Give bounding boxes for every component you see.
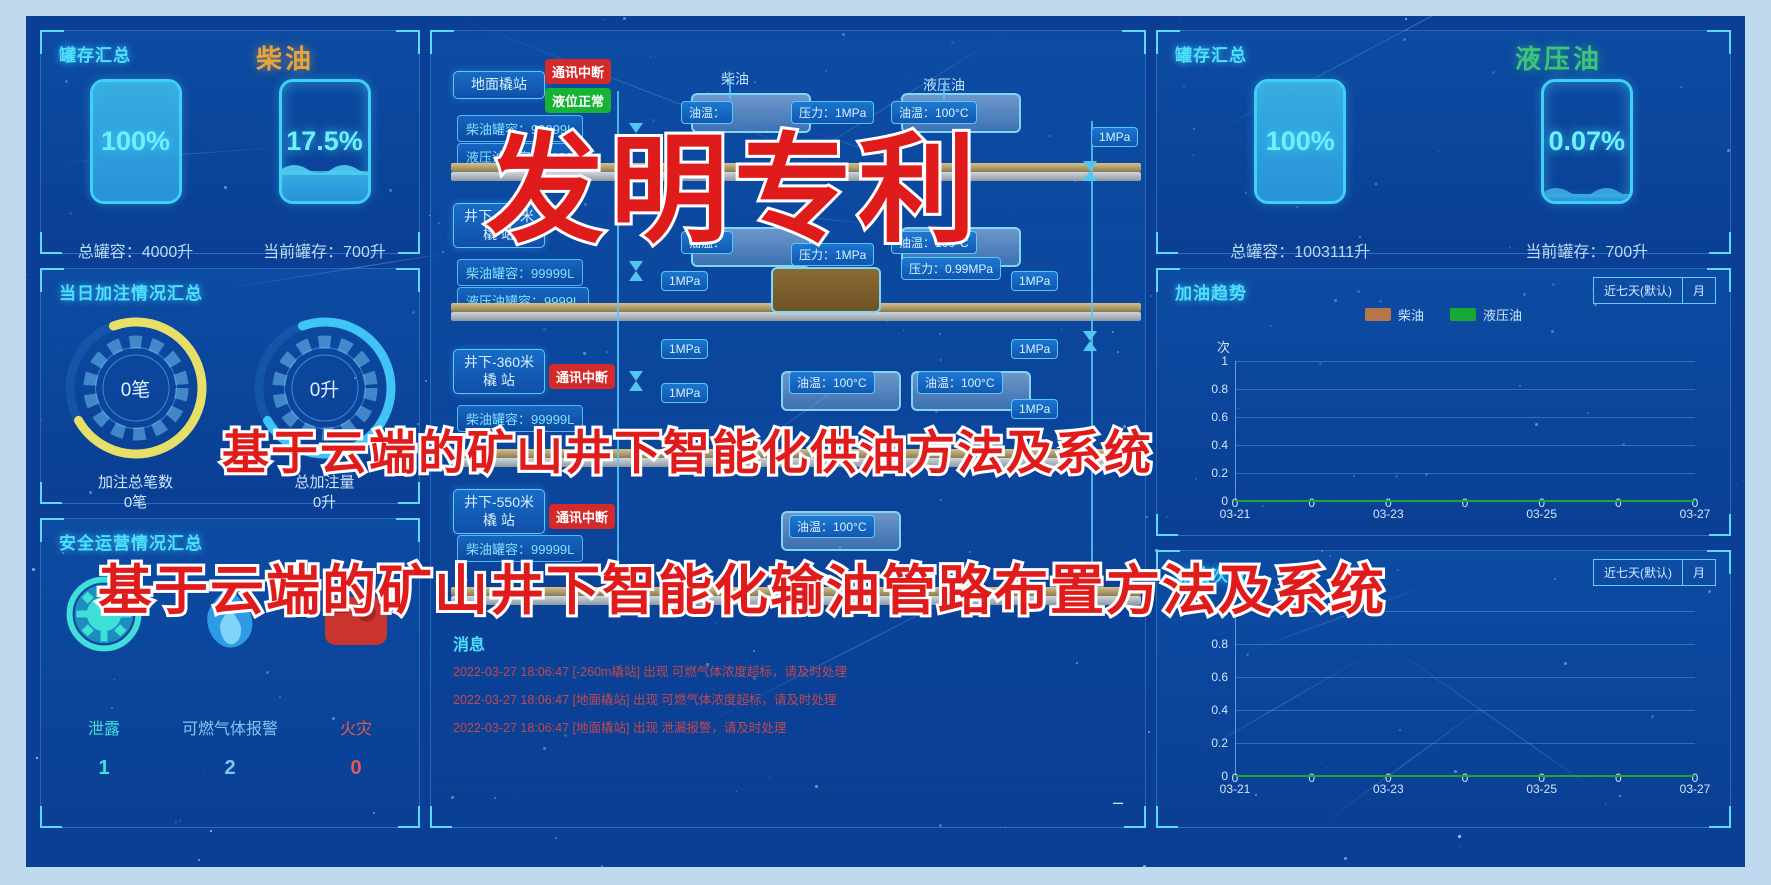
gauge-label-count-value: 0笔 (98, 493, 173, 513)
tank-caption-total-hydraulic: 总罐容：1003111升 (1230, 238, 1370, 262)
y-tick: 0.8 (1211, 637, 1228, 651)
pressure-tag-6: 1MPa (661, 383, 708, 403)
trend-range-month[interactable]: 月 (1683, 277, 1716, 304)
panel-title-daily-refuel: 当日加注情况汇总 (59, 279, 203, 304)
tank-cell-current: 17.5% 当前罐存：700升 (230, 79, 419, 262)
station-m550-line2: 橇 站 (462, 512, 536, 530)
y-tick: 1 (1221, 354, 1228, 368)
zoom-out-button[interactable]: – (1113, 792, 1123, 813)
tank-cell-current-hydraulic: 0.07% 当前罐存：700升 (1444, 79, 1731, 262)
pressure-tag-1: 1MPa (1091, 127, 1138, 147)
y-tick: 0.2 (1211, 466, 1228, 480)
tank-caption-total: 总罐容：4000升 (78, 238, 194, 262)
gauge-label-count-title: 加注总笔数 (98, 473, 173, 493)
gauge-label-count: 加注总笔数 0笔 (98, 473, 173, 512)
app-root: 罐存汇总 柴油 100% 总罐容：4000升 17. (0, 0, 1771, 885)
safety-label-fire: 火灾 (340, 715, 372, 739)
trend-legend-hydraulic: 液压油 (1450, 305, 1522, 324)
trend-range-selector[interactable]: 近七天(默认) 月 (1593, 277, 1716, 304)
safety-value-gas: 2 (224, 757, 235, 780)
column-label-diesel: 柴油 (721, 69, 749, 89)
tank-gauge-current: 17.5% (279, 79, 371, 204)
main-riser-right (1091, 121, 1093, 591)
message-line-3: 2022-03-27 18:06:47 [地面橇站] 出现 泄漏报警，请及时处理 (453, 717, 786, 736)
gauge-value-count: 0笔 (95, 347, 177, 429)
tank-percent-total: 100% (93, 82, 179, 201)
panel-left-tank-summary: 罐存汇总 柴油 100% 总罐容：4000升 17. (40, 30, 420, 254)
frame-left (0, 0, 26, 885)
safety-value-fire: 0 (350, 757, 361, 780)
panel-right-tank-summary: 罐存汇总 液压油 100% 总罐容：1003111升 (1156, 30, 1731, 254)
legend-swatch-hydraulic (1450, 308, 1476, 321)
frame-bottom (0, 867, 1771, 885)
tank-cell-total: 100% 总罐容：4000升 (41, 79, 230, 262)
sensor-oiltemp-5: 油温：100°C (789, 371, 875, 394)
tank-percent-current-hydraulic: 0.07% (1544, 82, 1630, 201)
chart-series (1235, 611, 1695, 776)
y-tick: 0 (1221, 769, 1228, 783)
badge-m550-comm: 通讯中断 (549, 504, 615, 529)
watermark-line-1: 基于云端的矿山井下智能化供油方法及系统 (222, 414, 1153, 483)
y-tick: 0.4 (1211, 438, 1228, 452)
badge-m360-comm: 通讯中断 (549, 364, 615, 389)
watermark-line-2: 基于云端的矿山井下智能化输油管路布置方法及系统 (98, 546, 1386, 625)
y-tick: 0.4 (1211, 703, 1228, 717)
safety-label-gas: 可燃气体报警 (182, 715, 278, 739)
station-m550-line1: 井下-550米 (462, 494, 536, 512)
legend-label-hydraulic: 液压油 (1483, 305, 1522, 324)
station-tag-m550[interactable]: 井下-550米 橇 站 (453, 489, 545, 534)
y-tick: 0.2 (1211, 736, 1228, 750)
message-line-1: 2022-03-27 18:06:47 [-260m橇站] 出现 可燃气体浓度超… (453, 661, 847, 680)
sensor-oiltemp-6: 油温：100°C (917, 371, 1003, 394)
trend-legend: 柴油 液压油 (1157, 305, 1730, 324)
badge-ground-comm: 通讯中断 (545, 59, 611, 84)
frame-right (1745, 0, 1771, 885)
dashboard-stage: 罐存汇总 柴油 100% 总罐容：4000升 17. (26, 16, 1745, 867)
tank-caption-current: 当前罐存：700升 (263, 238, 386, 262)
oil-type-hydraulic: 液压油 (1387, 39, 1730, 76)
y-tick: 0.6 (1211, 670, 1228, 684)
tank-cell-total-hydraulic: 100% 总罐容：1003111升 (1157, 79, 1444, 262)
safety-label-leak: 泄露 (88, 715, 120, 739)
pressure-tag-3: 1MPa (1011, 271, 1058, 291)
gauge-cell-count: 0笔 加注总笔数 0笔 (41, 313, 230, 512)
pressure-tag-4: 1MPa (661, 339, 708, 359)
panel-title-right-tank-summary: 罐存汇总 (1175, 41, 1247, 66)
tank-percent-current: 17.5% (282, 82, 368, 201)
legend-label-diesel: 柴油 (1398, 305, 1424, 324)
y-tick: 0 (1221, 494, 1228, 508)
pressure-tag-2: 1MPa (661, 271, 708, 291)
tank-gauge-total: 100% (90, 79, 182, 204)
gauge-refuel-count: 0笔 (61, 313, 211, 463)
y-tick: 0.6 (1211, 410, 1228, 424)
vessel-center-fill (771, 267, 881, 313)
message-line-2: 2022-03-27 18:06:47 [地面橇站] 出现 可燃气体浓度超标，请… (453, 689, 836, 708)
sensor-oiltemp-7: 油温：100°C (789, 515, 875, 538)
oil-type-diesel: 柴油 (151, 39, 419, 76)
panel-title-left-tank-summary: 罐存汇总 (59, 41, 131, 66)
messages-title: 消息 (453, 631, 485, 655)
tank-gauge-total-hydraulic: 100% (1254, 79, 1346, 204)
legend-swatch-diesel (1365, 308, 1391, 321)
chart-series (1235, 361, 1695, 501)
station-m360-line2: 橇 站 (462, 372, 536, 390)
panel-trend-chart: 加油趋势 近七天(默认) 月 柴油 液压油 次 00.20.40.60.8103… (1156, 268, 1731, 536)
tank-caption-current-hydraulic: 当前罐存：700升 (1525, 238, 1648, 262)
pressure-tag-5: 1MPa (1011, 339, 1058, 359)
trend-plot-area: 00.20.40.60.8103-2103-2303-2503-27000000… (1235, 361, 1695, 501)
station-m360-line1: 井下-360米 (462, 354, 536, 372)
trend-range-week[interactable]: 近七天(默认) (1593, 277, 1683, 304)
trend-legend-diesel: 柴油 (1365, 305, 1424, 324)
panel-title-trend-chart: 加油趋势 (1175, 279, 1247, 304)
tank-percent-total-hydraulic: 100% (1257, 82, 1343, 201)
count-plot-area: 00.20.40.60.8103-2103-2303-2503-27000000… (1235, 611, 1695, 776)
gauge-label-volume-value: 0升 (294, 493, 354, 513)
count-range-week[interactable]: 近七天(默认) (1593, 559, 1683, 586)
count-range-month[interactable]: 月 (1683, 559, 1716, 586)
station-tag-m360[interactable]: 井下-360米 橇 站 (453, 349, 545, 394)
watermark-title: 发明专利 (486, 94, 982, 265)
count-range-selector[interactable]: 近七天(默认) 月 (1593, 559, 1716, 586)
tank-gauge-current-hydraulic: 0.07% (1541, 79, 1633, 204)
frame-top (0, 0, 1771, 16)
y-tick: 0.8 (1211, 382, 1228, 396)
safety-value-leak: 1 (98, 757, 109, 780)
pipe-level-2-shadow (451, 312, 1141, 321)
